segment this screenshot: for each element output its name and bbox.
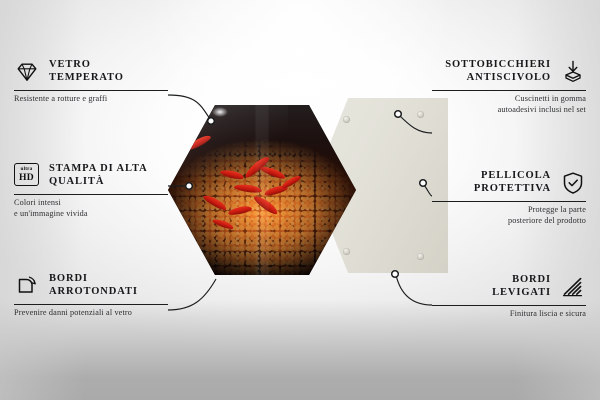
feature-divider	[14, 194, 168, 195]
feature-title: VETRO TEMPERATO	[49, 59, 124, 85]
feature-hd-print: ultra HD STAMPA DI ALTA QUALITÀ Colori i…	[14, 161, 264, 220]
infographic-stage: VETRO TEMPERATO Resistente a rotture e g…	[0, 0, 600, 400]
feature-description: Colori intensi e un'immagine vivida	[14, 198, 264, 220]
panel-screw-hole	[343, 248, 350, 255]
feature-divider	[14, 90, 168, 91]
feature-header: PELLICOLA PROTETTIVA	[336, 168, 586, 198]
shield-check-icon	[560, 170, 586, 196]
feature-header: SOTTOBICCHIERI ANTISCIVOLO	[336, 57, 586, 87]
feature-divider	[432, 201, 586, 202]
feature-title: BORDI LEVIGATI	[492, 274, 551, 300]
feature-title: SOTTOBICCHIERI ANTISCIVOLO	[445, 59, 551, 85]
panel-screw-hole	[417, 253, 424, 260]
feature-title: STAMPA DI ALTA QUALITÀ	[49, 163, 148, 189]
feature-title: PELLICOLA PROTETTIVA	[474, 170, 551, 196]
feature-protective-film: PELLICOLA PROTETTIVA Protegge la parte p…	[336, 168, 586, 227]
rounded-corner-icon	[14, 273, 40, 299]
press-pad-icon	[560, 59, 586, 85]
feature-anti-slip-coasters: SOTTOBICCHIERI ANTISCIVOLO Cuscinetti in…	[336, 57, 586, 116]
ultra-hd-icon: ultra HD	[14, 163, 40, 189]
feature-description: Protegge la parte posteriore del prodott…	[336, 205, 586, 227]
diamond-icon	[14, 59, 40, 85]
feature-header: BORDI ARROTONDATI	[14, 271, 264, 301]
feature-header: BORDI LEVIGATI	[336, 272, 586, 302]
feature-header: VETRO TEMPERATO	[14, 57, 264, 87]
feature-divider	[432, 90, 586, 91]
feature-divider	[14, 304, 168, 305]
feature-header: ultra HD STAMPA DI ALTA QUALITÀ	[14, 161, 264, 191]
feature-polished-edges: BORDI LEVIGATI Finitura liscia e sicura	[336, 272, 586, 320]
polished-edge-icon	[560, 274, 586, 300]
feature-description: Finitura liscia e sicura	[336, 309, 586, 320]
feature-description: Prevenire danni potenziali al vetro	[14, 308, 264, 319]
glass-hotspot	[212, 107, 228, 117]
feature-rounded-edges: BORDI ARROTONDATI Prevenire danni potenz…	[14, 271, 264, 319]
feature-title: BORDI ARROTONDATI	[49, 273, 138, 299]
feature-divider	[432, 305, 586, 306]
feature-description: Cuscinetti in gomma autoadesivi inclusi …	[336, 94, 586, 116]
feature-tempered-glass: VETRO TEMPERATO Resistente a rotture e g…	[14, 57, 264, 105]
feature-description: Resistente a rotture e graffi	[14, 94, 264, 105]
panel-screw-hole	[343, 116, 350, 123]
